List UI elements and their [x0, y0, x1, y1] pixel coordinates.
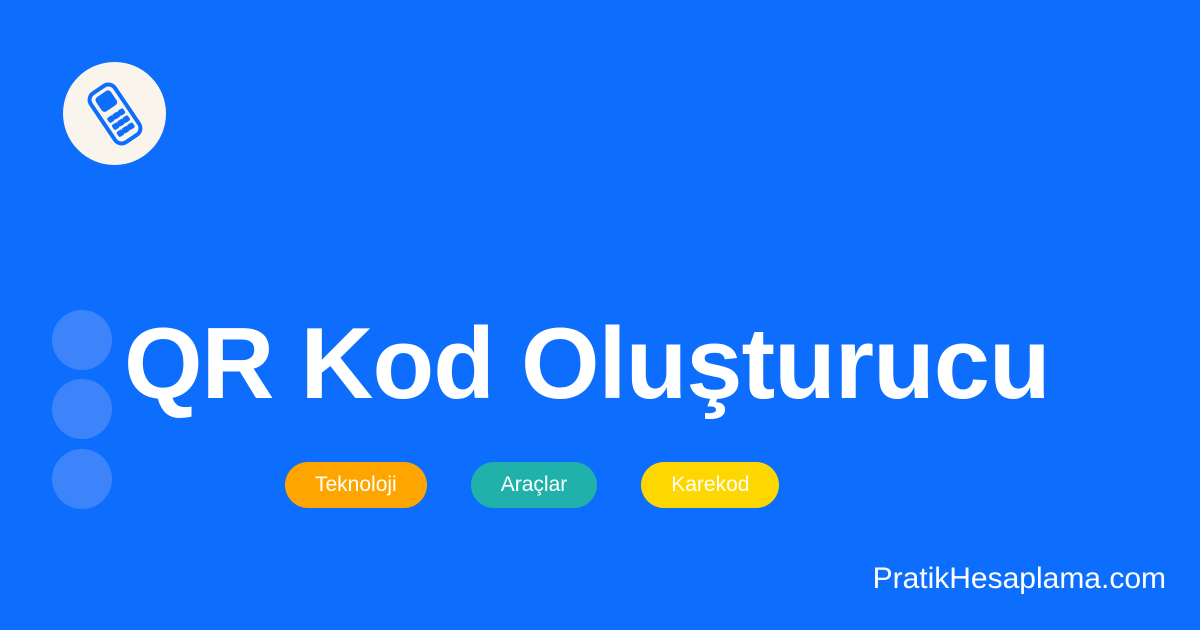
decorative-circle [52, 449, 112, 509]
logo-badge [63, 62, 166, 165]
mobile-phone-icon [76, 75, 154, 153]
tag-pill-araclar[interactable]: Araçlar [471, 462, 598, 508]
page-title: QR Kod Oluşturucu [124, 304, 1144, 424]
decorative-circle [52, 379, 112, 439]
share-card: QR Kod Oluşturucu Teknoloji Araçlar Kare… [0, 0, 1200, 630]
brand-watermark: PratikHesaplama.com [873, 562, 1166, 596]
tag-pill-karekod[interactable]: Karekod [641, 462, 779, 508]
decorative-circle [52, 310, 112, 370]
tag-pill-teknoloji[interactable]: Teknoloji [285, 462, 427, 508]
tag-list: Teknoloji Araçlar Karekod [285, 462, 779, 508]
